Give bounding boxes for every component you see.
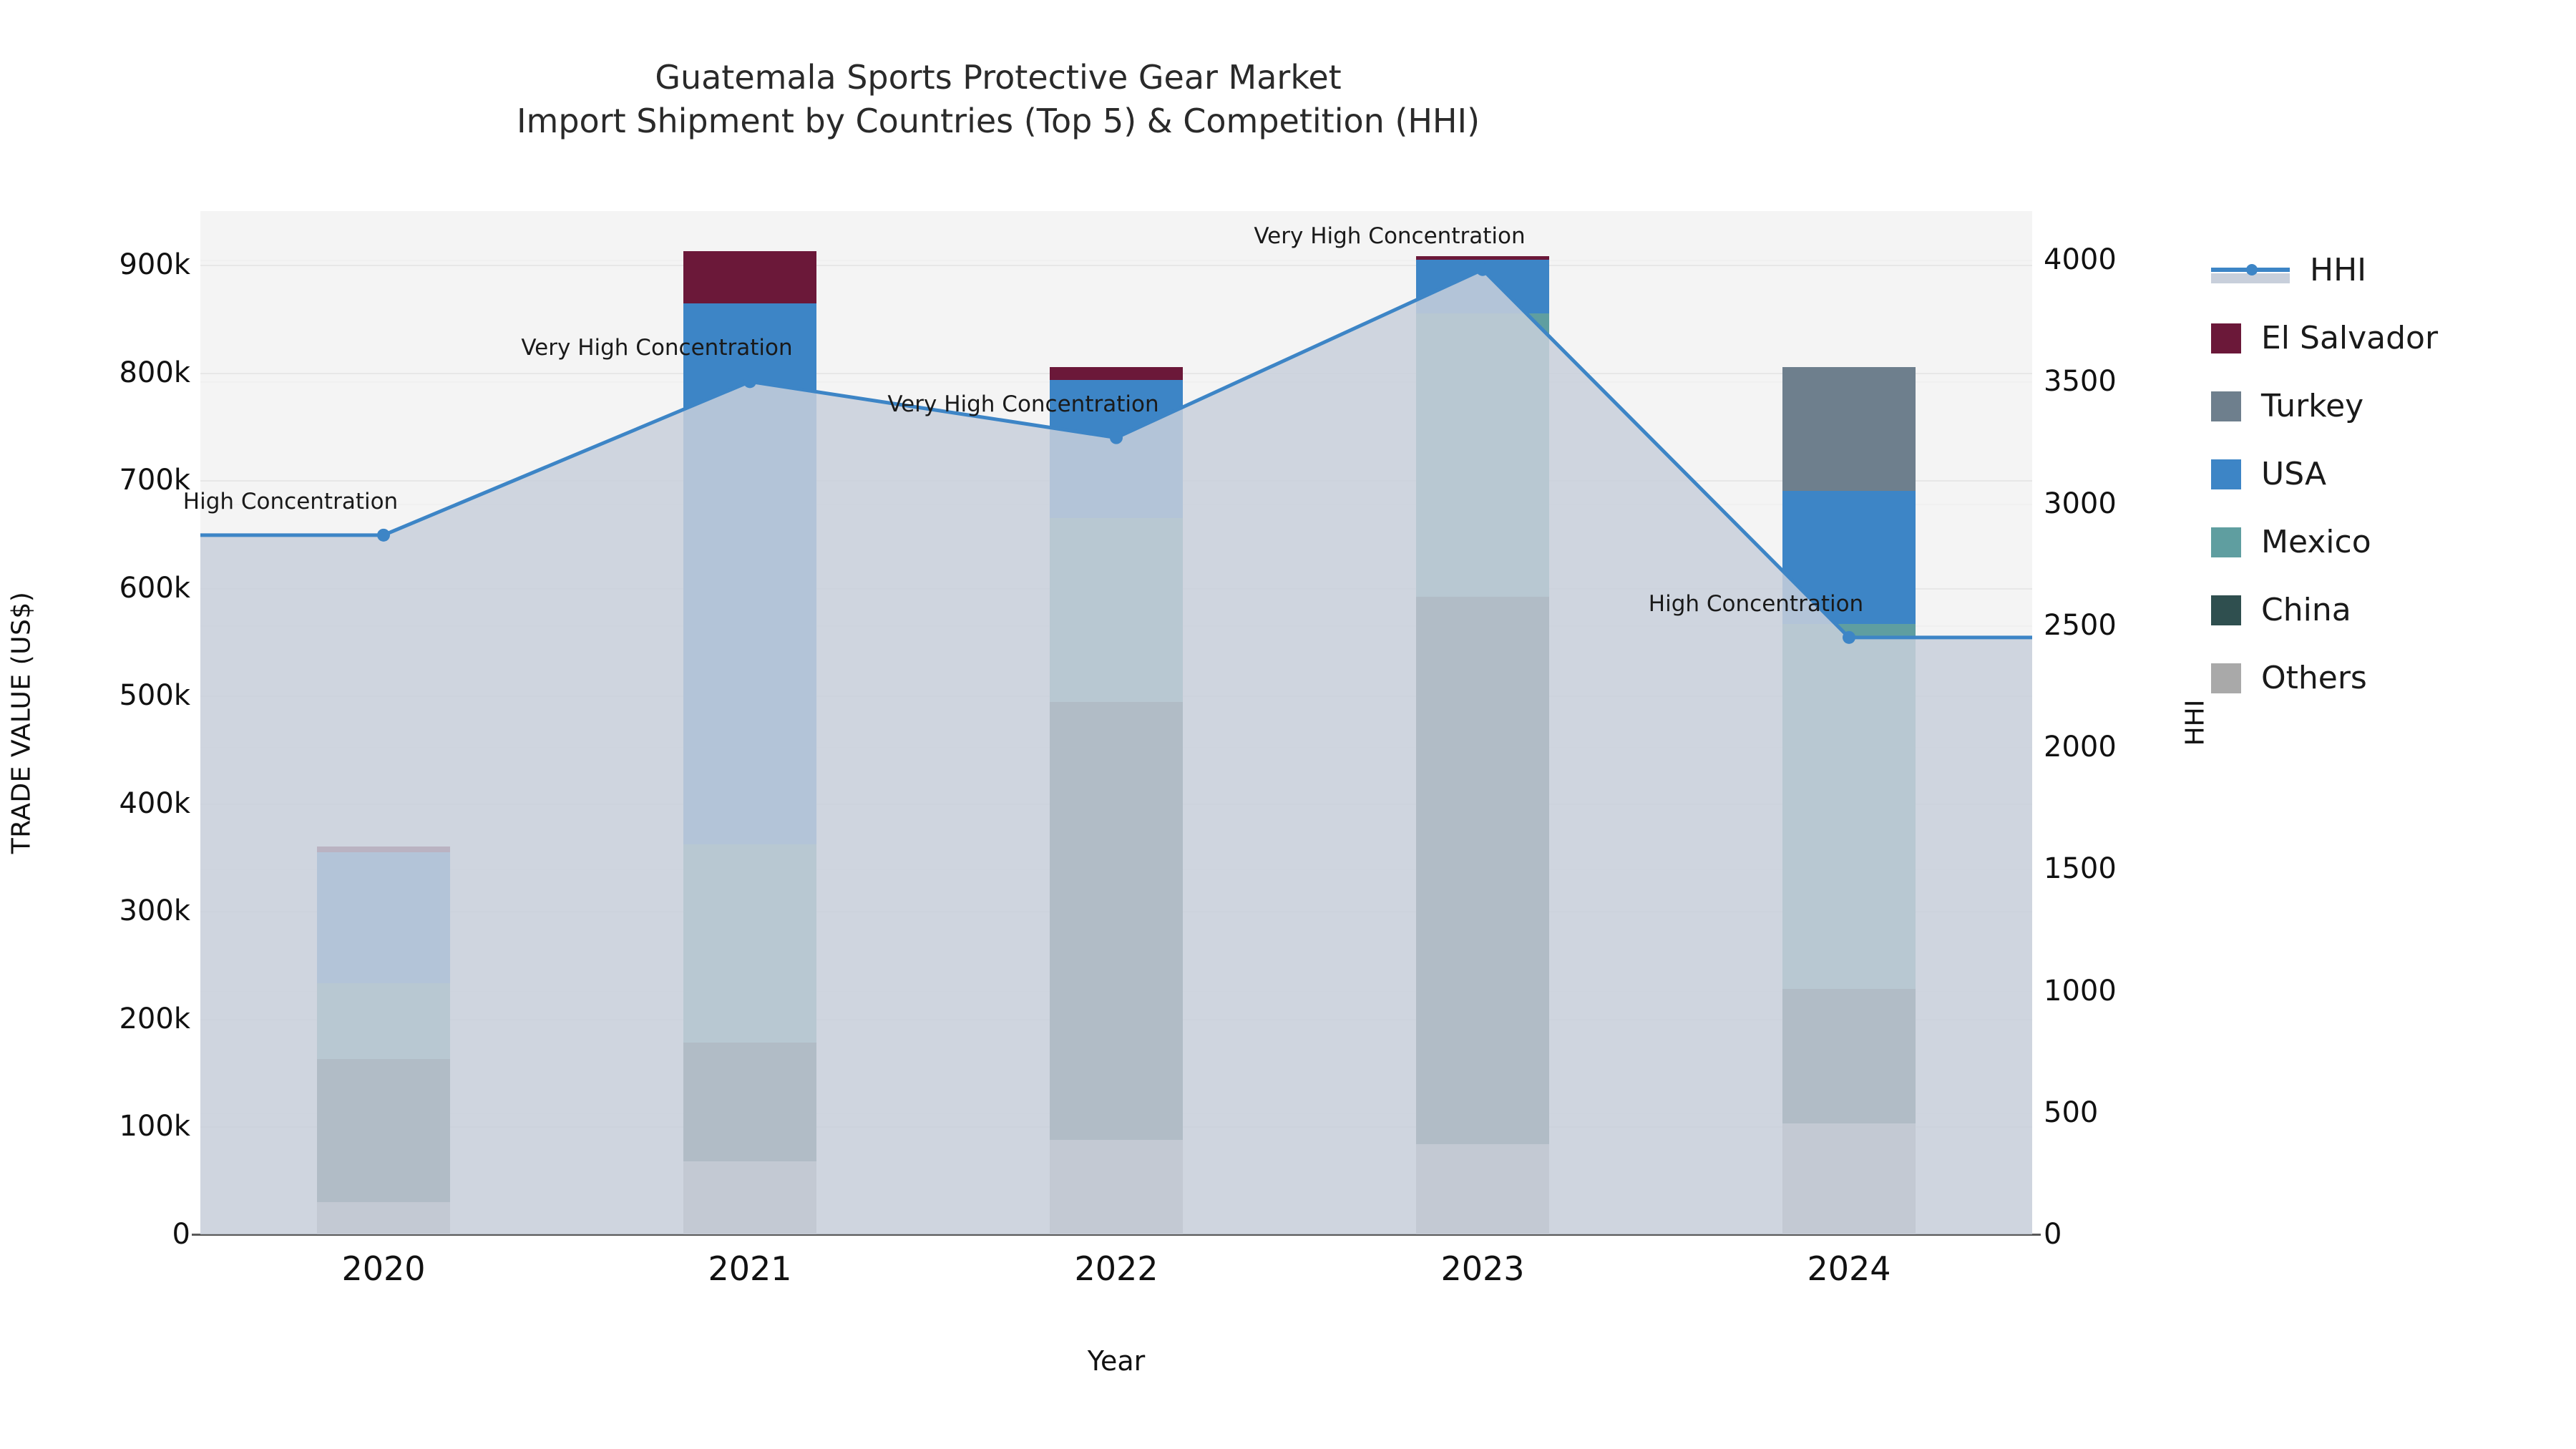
legend-label: HHI	[2310, 252, 2366, 288]
legend-swatch-icon	[2211, 323, 2241, 353]
legend-label: USA	[2261, 456, 2326, 492]
legend-swatch-icon	[2211, 595, 2241, 625]
legend-item-china[interactable]: China	[2211, 576, 2569, 644]
legend-item-el-salvador[interactable]: El Salvador	[2211, 304, 2569, 372]
legend-item-usa[interactable]: USA	[2211, 440, 2569, 508]
x-tick-label: 2023	[1440, 1249, 1524, 1288]
legend-swatch-icon	[2211, 663, 2241, 693]
legend-item-mexico[interactable]: Mexico	[2211, 508, 2569, 576]
legend-swatch-icon	[2211, 459, 2241, 489]
legend-item-hhi[interactable]: HHI	[2211, 236, 2569, 304]
legend-label: China	[2261, 592, 2351, 628]
x-tick-label: 2022	[1074, 1249, 1158, 1288]
legend-item-turkey[interactable]: Turkey	[2211, 372, 2569, 440]
legend-item-others[interactable]: Others	[2211, 644, 2569, 712]
legend-swatch-icon	[2211, 527, 2241, 557]
legend-line-marker-icon	[2211, 255, 2290, 286]
legend-swatch-icon	[2211, 391, 2241, 421]
legend-label: Mexico	[2261, 524, 2371, 560]
legend-label: El Salvador	[2261, 320, 2438, 356]
legend: HHIEl SalvadorTurkeyUSAMexicoChinaOthers	[2211, 236, 2569, 712]
x-tick-label: 2021	[708, 1249, 791, 1288]
x-axis-label: Year	[1088, 1345, 1145, 1377]
legend-label: Turkey	[2261, 388, 2363, 424]
x-axis-ticks: 20202021202220232024	[0, 0, 2576, 1449]
x-tick-label: 2020	[341, 1249, 425, 1288]
x-tick-label: 2024	[1807, 1249, 1890, 1288]
legend-label: Others	[2261, 660, 2367, 696]
